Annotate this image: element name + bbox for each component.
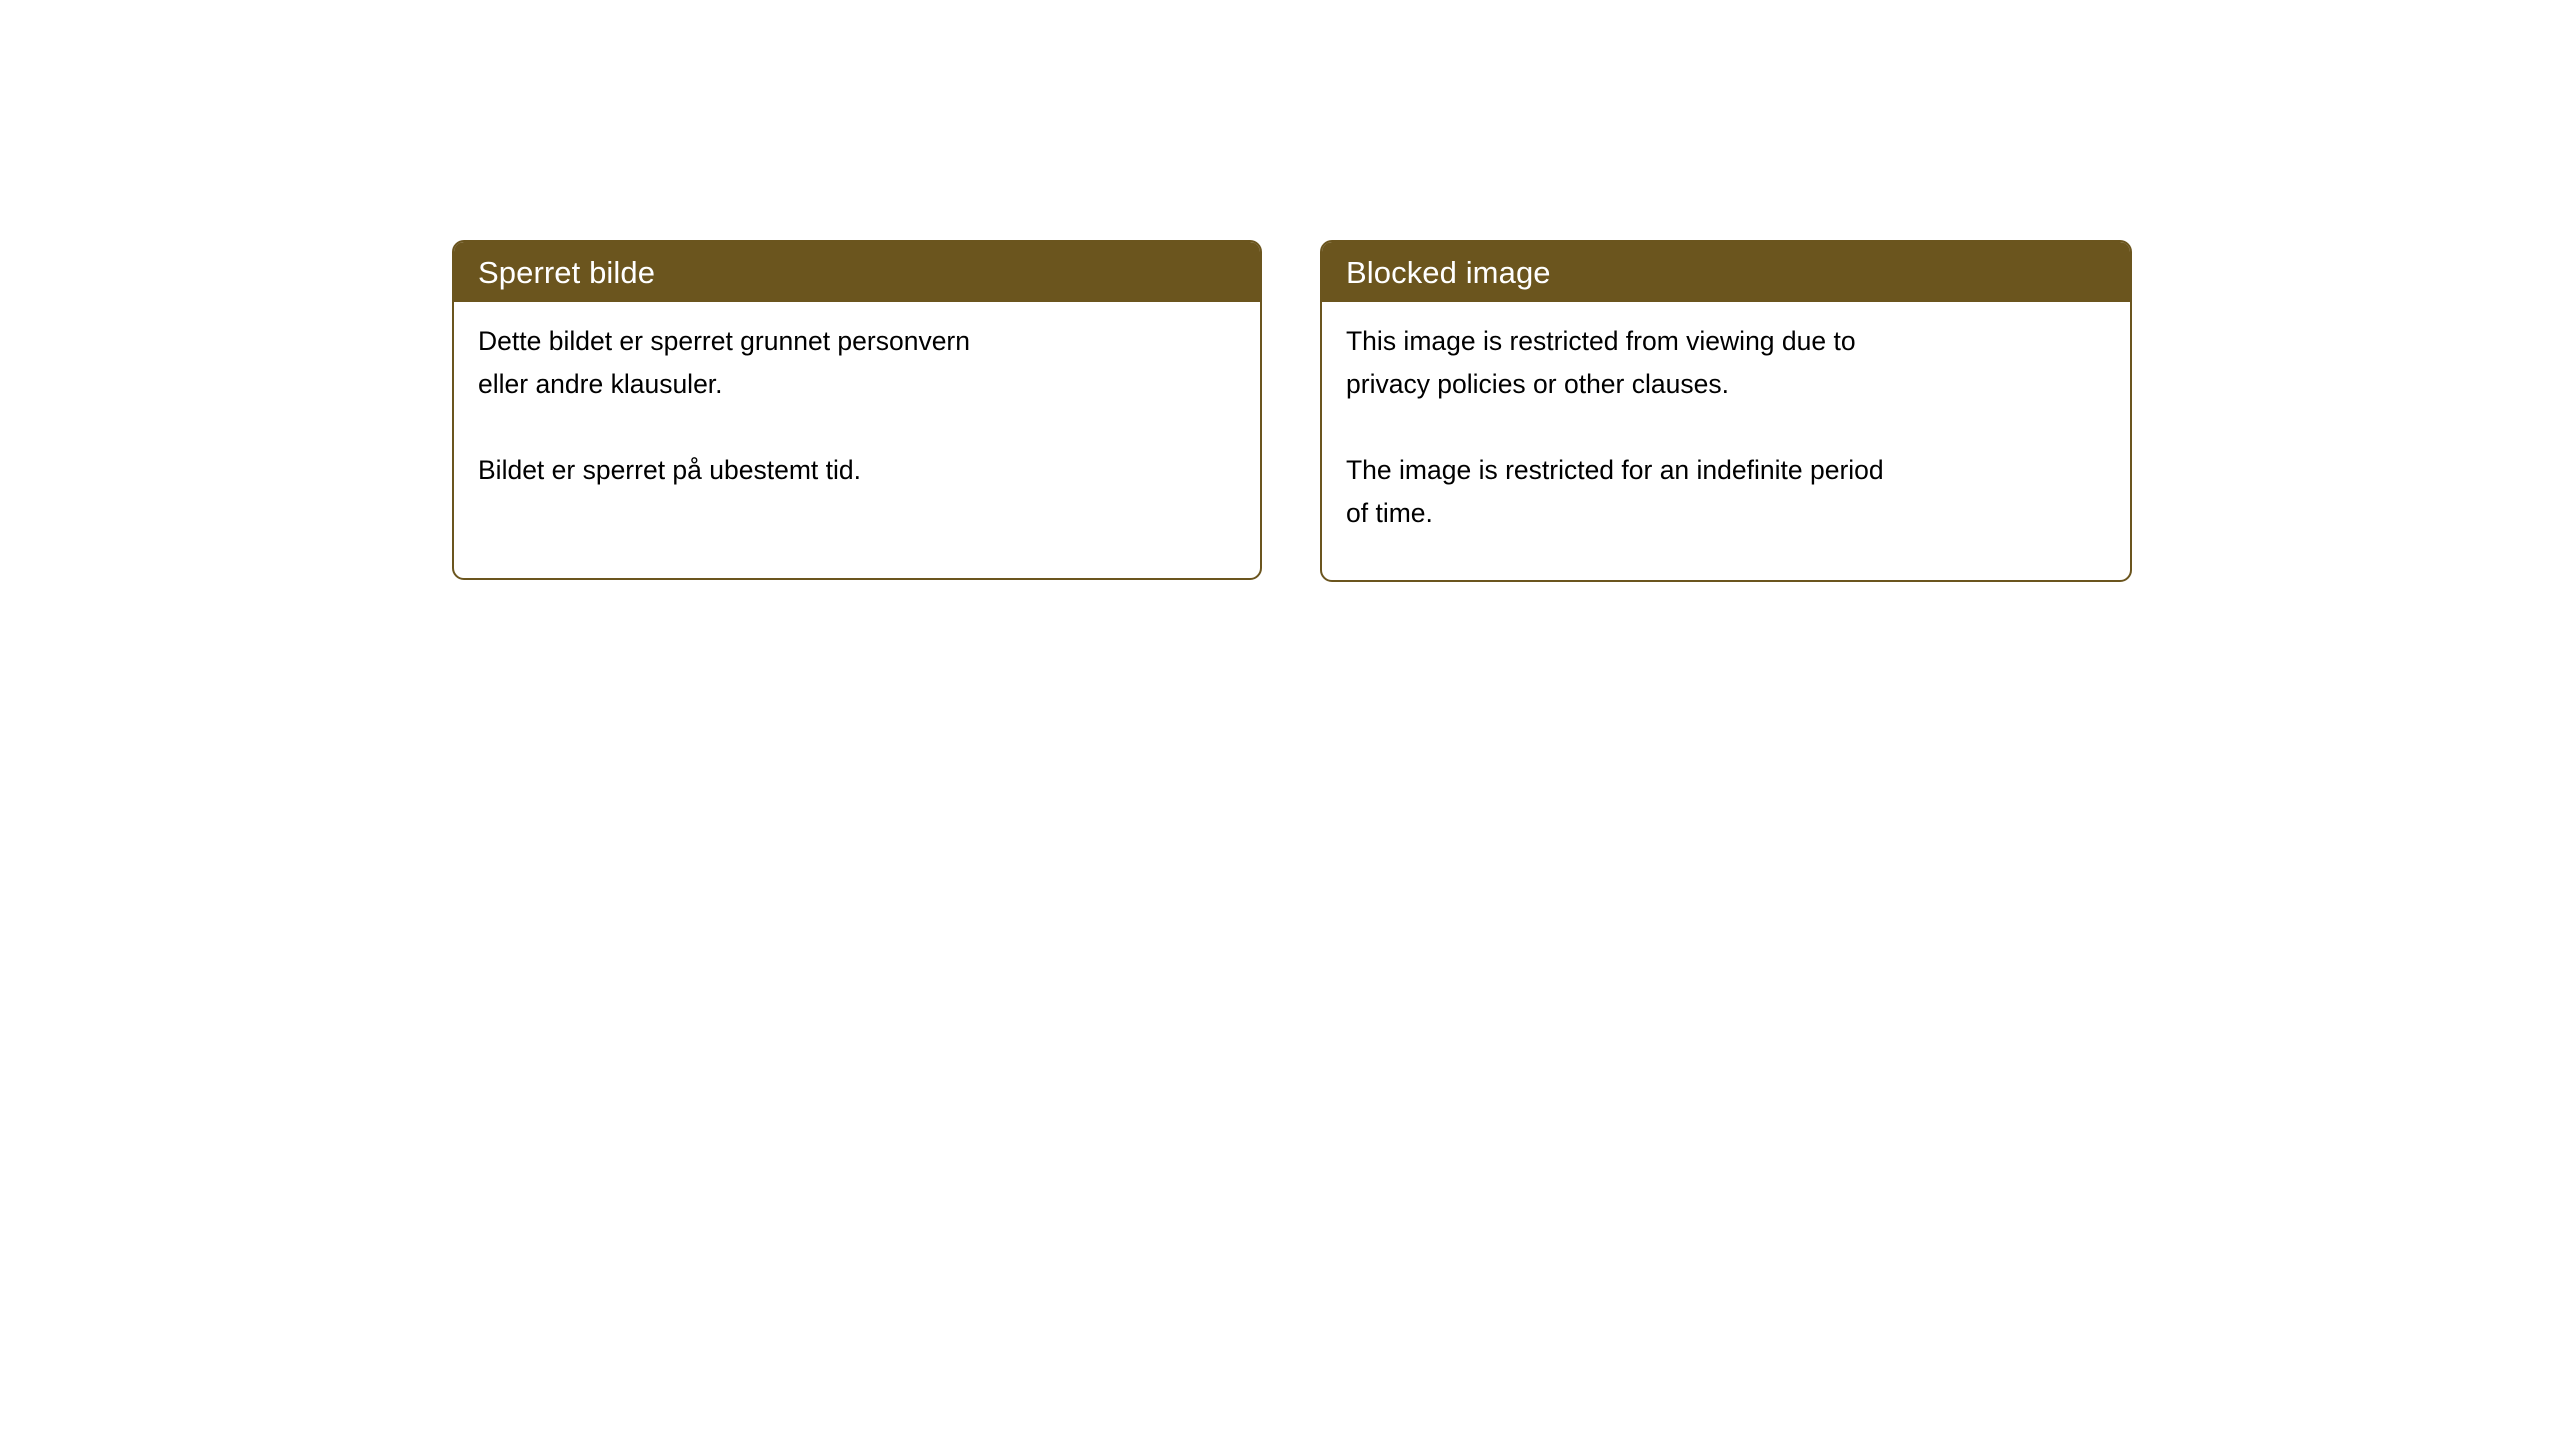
blocked-image-notice-norwegian: Sperret bilde Dette bildet er sperret gr… xyxy=(452,240,1262,580)
page-root: Sperret bilde Dette bildet er sperret gr… xyxy=(0,0,2560,1440)
card-body-norwegian: Dette bildet er sperret grunnet personve… xyxy=(454,302,1260,512)
card-body-english: This image is restricted from viewing du… xyxy=(1322,302,2130,555)
card-title-english: Blocked image xyxy=(1346,257,1551,288)
card-paragraph-primary-norwegian: Dette bildet er sperret grunnet personve… xyxy=(478,320,1236,406)
card-header-english: Blocked image xyxy=(1322,242,2130,302)
card-paragraph-primary-english: This image is restricted from viewing du… xyxy=(1346,320,2106,406)
card-paragraph-secondary-norwegian: Bildet er sperret på ubestemt tid. xyxy=(478,449,1236,492)
card-paragraph-secondary-english: The image is restricted for an indefinit… xyxy=(1346,449,2106,535)
blocked-image-notice-english: Blocked image This image is restricted f… xyxy=(1320,240,2132,582)
card-title-norwegian: Sperret bilde xyxy=(478,257,655,288)
card-header-norwegian: Sperret bilde xyxy=(454,242,1260,302)
